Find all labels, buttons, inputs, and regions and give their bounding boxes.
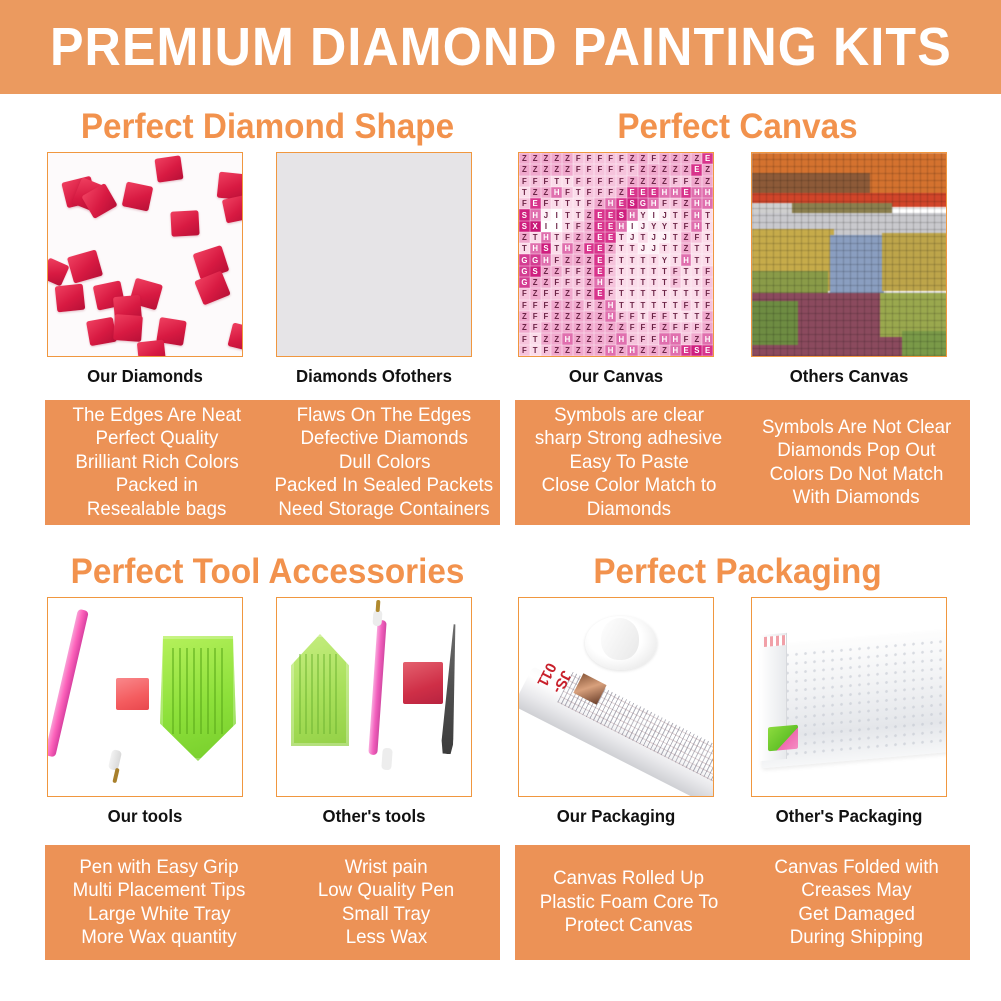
canvas-cell: J [638, 221, 649, 232]
canvas-cell: Z [562, 288, 573, 299]
canvas-cell: Z [541, 266, 552, 277]
canvas-cell: H [670, 187, 681, 198]
canvas-cell: T [638, 254, 649, 265]
section-title-diamond-shape: Perfect Diamond Shape [51, 107, 483, 147]
canvas-cell: E [594, 288, 605, 299]
canvas-cell: E [594, 232, 605, 243]
canvas-cell: Z [584, 209, 595, 220]
fact-line: With Diamonds [793, 486, 920, 510]
canvas-cell: Z [659, 176, 670, 187]
canvas-cell: T [691, 311, 702, 322]
canvas-cell: F [573, 277, 584, 288]
canvas-cell: F [562, 232, 573, 243]
canvas-cell: T [627, 300, 638, 311]
canvas-cell: F [519, 198, 530, 209]
canvas-cell: F [681, 333, 692, 344]
canvas-cell: T [648, 254, 659, 265]
fact-line: Resealable bags [87, 498, 226, 522]
canvas-cell: T [530, 333, 541, 344]
canvas-cell: S [541, 243, 552, 254]
canvas-cell: H [691, 209, 702, 220]
fact-line: The Edges Are Neat [72, 404, 241, 428]
caption-others-diamonds: Diamonds Ofothers [280, 366, 468, 387]
canvas-cell: T [670, 221, 681, 232]
canvas-cell: Z [584, 232, 595, 243]
fact-line: Low Quality Pen [318, 879, 454, 903]
canvas-cell: F [584, 300, 595, 311]
canvas-cell: T [638, 300, 649, 311]
canvas-cell: F [702, 300, 713, 311]
canvas-cell: F [530, 176, 541, 187]
fact-line: Creases May [801, 879, 911, 903]
canvas-cell: Z [584, 311, 595, 322]
canvas-cell: Z [530, 288, 541, 299]
canvas-cell: Z [573, 311, 584, 322]
canvas-cell: S [691, 345, 702, 356]
canvas-cell: Z [530, 164, 541, 175]
canvas-cell: Z [648, 176, 659, 187]
canvas-cell: I [627, 221, 638, 232]
canvas-cell: F [551, 288, 562, 299]
canvas-cell: F [519, 333, 530, 344]
fact-line: Perfect Quality [95, 427, 218, 451]
canvas-cell: T [648, 300, 659, 311]
canvas-cell: Z [573, 254, 584, 265]
fact-line: During Shipping [790, 926, 923, 950]
canvas-cell: G [638, 198, 649, 209]
fact-line: Small Tray [342, 903, 430, 927]
canvas-cell: Z [541, 333, 552, 344]
canvas-cell: H [562, 333, 573, 344]
factcol-our-diamonds: The Edges Are Neat Perfect Quality Brill… [45, 400, 268, 525]
canvas-cell: Z [551, 300, 562, 311]
canvas-cell: F [584, 176, 595, 187]
canvas-cell: F [541, 176, 552, 187]
canvas-cell: F [691, 232, 702, 243]
canvas-cell: T [551, 176, 562, 187]
canvas-cell: Z [681, 198, 692, 209]
canvas-cell: Z [594, 311, 605, 322]
canvas-cell: T [551, 232, 562, 243]
canvas-cell: Z [551, 311, 562, 322]
fact-line: Dull Colors [338, 451, 430, 475]
fact-line: Less Wax [345, 926, 426, 950]
canvas-cell: T [691, 288, 702, 299]
factcol-our-packaging: Canvas Rolled Up Plastic Foam Core To Pr… [515, 845, 743, 960]
canvas-cell: Z [638, 164, 649, 175]
canvas-cell: F [573, 153, 584, 164]
photo-others-diamonds [276, 152, 472, 357]
canvas-cell: F [616, 311, 627, 322]
canvas-cell: F [519, 176, 530, 187]
factcol-our-canvas: Symbols are clear sharp Strong adhesive … [515, 400, 743, 525]
canvas-cell: T [627, 254, 638, 265]
canvas-cell: F [584, 198, 595, 209]
canvas-cell: F [670, 322, 681, 333]
canvas-cell: J [659, 232, 670, 243]
canvas-cell: H [541, 232, 552, 243]
canvas-cell: Z [638, 176, 649, 187]
canvas-cell: T [551, 198, 562, 209]
canvas-cell: E [594, 243, 605, 254]
canvas-cell: I [551, 221, 562, 232]
canvas-cell: G [519, 254, 530, 265]
canvas-cell: Z [562, 311, 573, 322]
canvas-cell: T [702, 243, 713, 254]
canvas-cell: E [594, 266, 605, 277]
canvas-cell: F [670, 277, 681, 288]
canvas-cell: Z [584, 266, 595, 277]
factbox-diamond-shape: The Edges Are Neat Perfect Quality Brill… [45, 400, 500, 525]
photo-our-diamonds [47, 152, 243, 357]
canvas-cell: Z [638, 345, 649, 356]
canvas-cell: T [670, 300, 681, 311]
fact-line: Get Damaged [798, 903, 915, 927]
section-title-packaging: Perfect Packaging [521, 552, 953, 592]
canvas-cell: X [530, 221, 541, 232]
canvas-cell: T [519, 243, 530, 254]
canvas-cell: F [681, 300, 692, 311]
canvas-cell: T [616, 300, 627, 311]
canvas-cell: Z [594, 198, 605, 209]
canvas-cell: F [519, 288, 530, 299]
canvas-cell: J [648, 243, 659, 254]
canvas-cell: Z [573, 322, 584, 333]
canvas-cell: T [691, 277, 702, 288]
canvas-cell: Z [562, 300, 573, 311]
pen-top-collar [372, 610, 382, 627]
canvas-cell: Z [670, 164, 681, 175]
fact-line: Brilliant Rich Colors [75, 451, 238, 475]
fact-line: Protect Canvas [565, 914, 693, 938]
pink-pen-icon [48, 609, 89, 758]
canvas-cell: E [702, 153, 713, 164]
canvas-cell: F [562, 277, 573, 288]
canvas-cell: F [648, 311, 659, 322]
pink-symbol-grid-image: ZZZZZFFFFFZZFZZZZEZZZZZFFFFFFZZZZZEZFFFT… [519, 153, 713, 356]
tube-cap-knob [601, 618, 639, 660]
canvas-cell: H [670, 333, 681, 344]
canvas-cell: Y [659, 221, 670, 232]
canvas-cell: E [584, 243, 595, 254]
canvas-cell: Z [584, 322, 595, 333]
canvas-cell: H [659, 333, 670, 344]
canvas-cell: Z [616, 322, 627, 333]
canvas-cell: E [648, 187, 659, 198]
canvas-cell: Z [594, 300, 605, 311]
canvas-cell: Z [691, 176, 702, 187]
canvas-symbol-grid: ZZZZZFFFFFZZFZZZZEZZZZZFFFFFFZZZZZEZFFFT… [519, 153, 713, 356]
canvas-cell: Z [519, 311, 530, 322]
canvas-cell: J [627, 232, 638, 243]
canvas-cell: Z [584, 333, 595, 344]
canvas-cell: Z [562, 164, 573, 175]
canvas-cell: T [681, 288, 692, 299]
canvas-cell: Z [519, 232, 530, 243]
canvas-cell: F [648, 153, 659, 164]
canvas-cell: Z [691, 333, 702, 344]
canvas-cell: T [681, 277, 692, 288]
canvas-cell: T [659, 300, 670, 311]
canvas-cell: E [530, 198, 541, 209]
canvas-cell: F [627, 322, 638, 333]
canvas-cell: Z [594, 345, 605, 356]
mailer-seal-strip [764, 635, 786, 647]
canvas-cell: Z [541, 187, 552, 198]
canvas-cell: H [530, 243, 541, 254]
fact-line: sharp Strong adhesive [535, 427, 722, 451]
canvas-cell: F [670, 198, 681, 209]
canvas-cell: F [627, 333, 638, 344]
canvas-cell: F [562, 187, 573, 198]
photo-others-packaging [751, 597, 947, 797]
canvas-cell: F [573, 221, 584, 232]
canvas-cell: Z [584, 288, 595, 299]
canvas-cell: F [659, 198, 670, 209]
canvas-cell: T [530, 345, 541, 356]
factcol-others-tools: Wrist pain Low Quality Pen Small Tray Le… [273, 845, 501, 960]
canvas-cell: T [638, 232, 649, 243]
caption-others-packaging: Other's Packaging [755, 806, 943, 827]
canvas-cell: Z [659, 164, 670, 175]
canvas-cell: F [605, 164, 616, 175]
canvas-cell: Z [702, 164, 713, 175]
canvas-cell: F [681, 221, 692, 232]
section-title-tools: Perfect Tool Accessories [51, 552, 483, 592]
canvas-cell: F [691, 322, 702, 333]
canvas-cell: H [616, 333, 627, 344]
photo-others-canvas [751, 152, 947, 357]
page-title: PREMIUM DIAMOND PAINTING KITS [50, 16, 952, 78]
canvas-cell: Z [573, 300, 584, 311]
canvas-cell: T [659, 243, 670, 254]
canvas-cell: F [541, 311, 552, 322]
canvas-cell: T [670, 254, 681, 265]
canvas-cell: E [627, 187, 638, 198]
caption-our-packaging: Our Packaging [522, 806, 710, 827]
canvas-cell: Z [530, 153, 541, 164]
bubble-mailer-image [752, 598, 946, 796]
canvas-cell: H [691, 187, 702, 198]
canvas-cell: E [594, 221, 605, 232]
photo-our-tools [47, 597, 243, 797]
canvas-cell: H [702, 333, 713, 344]
canvas-cell: T [670, 209, 681, 220]
canvas-cell: Z [681, 232, 692, 243]
canvas-cell: Z [627, 176, 638, 187]
canvas-cell: Z [551, 322, 562, 333]
canvas-cell: F [638, 322, 649, 333]
canvas-cell: H [551, 187, 562, 198]
canvas-cell: Z [659, 153, 670, 164]
canvas-cell: T [638, 266, 649, 277]
canvas-cell: F [702, 288, 713, 299]
canvas-cell: T [562, 198, 573, 209]
fact-line: Close Color Match to [541, 474, 716, 498]
canvas-cell: H [627, 345, 638, 356]
canvas-cell: H [605, 198, 616, 209]
canvas-cell: T [530, 232, 541, 243]
factbox-packaging: Canvas Rolled Up Plastic Foam Core To Pr… [515, 845, 970, 960]
canvas-cell: E [605, 221, 616, 232]
caption-others-canvas: Others Canvas [755, 366, 943, 387]
canvas-cell: F [605, 277, 616, 288]
canvas-cell: F [519, 300, 530, 311]
canvas-cell: Z [670, 153, 681, 164]
red-diamonds-image [48, 153, 242, 356]
canvas-cell: Z [541, 322, 552, 333]
infographic-page: PREMIUM DIAMOND PAINTING KITS Perfect Di… [0, 0, 1001, 1001]
canvas-cell: Z [573, 243, 584, 254]
canvas-cell: F [681, 322, 692, 333]
canvas-cell: T [627, 243, 638, 254]
canvas-cell: T [616, 254, 627, 265]
canvas-cell: T [573, 198, 584, 209]
fact-line: Large White Tray [87, 903, 230, 927]
canvas-cell: T [702, 254, 713, 265]
canvas-cell: T [562, 221, 573, 232]
canvas-cell: Z [702, 311, 713, 322]
canvas-cell: F [670, 176, 681, 187]
canvas-cell: Z [616, 345, 627, 356]
canvas-cell: T [616, 232, 627, 243]
mailer-bubble-texture [774, 636, 946, 760]
fact-line: Pen with Easy Grip [79, 856, 238, 880]
canvas-cell: Z [702, 176, 713, 187]
canvas-cell: Y [638, 209, 649, 220]
canvas-cell: H [681, 254, 692, 265]
canvas-cell: T [691, 266, 702, 277]
header-banner: PREMIUM DIAMOND PAINTING KITS [0, 0, 1001, 94]
canvas-cell: T [616, 266, 627, 277]
canvas-cell: J [648, 232, 659, 243]
canvas-cell: F [616, 153, 627, 164]
canvas-cell: F [562, 266, 573, 277]
canvas-cell: Z [551, 153, 562, 164]
canvas-cell: Y [648, 221, 659, 232]
canvas-cell: Z [562, 322, 573, 333]
canvas-cell: F [605, 254, 616, 265]
canvas-cell: T [681, 266, 692, 277]
fact-line: Colors Do Not Match [769, 463, 943, 487]
photo-our-packaging: JS-011 [518, 597, 714, 797]
canvas-cell: Z [541, 164, 552, 175]
canvas-cell: T [691, 300, 702, 311]
canvas-cell: Z [702, 322, 713, 333]
green-tray-grooves [172, 648, 224, 734]
canvas-cell: E [616, 198, 627, 209]
factcol-others-canvas: Symbols Are Not Clear Diamonds Pop Out C… [743, 400, 971, 525]
canvas-cell: F [530, 322, 541, 333]
fact-line: Easy To Paste [569, 451, 688, 475]
canvas-cell: F [541, 300, 552, 311]
canvas-cell: Z [573, 345, 584, 356]
canvas-cell: Z [627, 153, 638, 164]
fact-line: Canvas Folded with [774, 856, 938, 880]
canvas-cell: Z [573, 333, 584, 344]
canvas-cell: F [638, 333, 649, 344]
canvas-cell: E [702, 345, 713, 356]
canvas-cell: T [648, 288, 659, 299]
canvas-cell: Z [681, 164, 692, 175]
canvas-cell: Z [530, 277, 541, 288]
canvas-cell: F [573, 164, 584, 175]
canvas-cell: T [648, 266, 659, 277]
canvas-cell: S [616, 209, 627, 220]
canvas-cell: E [638, 187, 649, 198]
canvas-cell: Z [605, 333, 616, 344]
canvas-cell: H [594, 277, 605, 288]
canvas-cell: T [670, 311, 681, 322]
canvas-cell: T [616, 277, 627, 288]
canvas-cell: F [605, 176, 616, 187]
canvas-cell: E [681, 345, 692, 356]
canvas-cell: F [648, 333, 659, 344]
canvas-cell: T [627, 277, 638, 288]
canvas-cell: Z [648, 345, 659, 356]
canvas-cell: T [627, 266, 638, 277]
canvas-cell: H [702, 198, 713, 209]
canvas-cell: F [616, 164, 627, 175]
canvas-cell: F [627, 164, 638, 175]
canvas-cell: H [562, 243, 573, 254]
canvas-cell: T [616, 288, 627, 299]
canvas-cell: F [594, 176, 605, 187]
canvas-cell: T [670, 288, 681, 299]
canvas-cell: Z [584, 345, 595, 356]
canvas-cell: T [659, 277, 670, 288]
canvas-cell: T [573, 187, 584, 198]
canvas-cell: I [541, 221, 552, 232]
canvas-cell: Z [659, 322, 670, 333]
canvas-cell: Z [562, 153, 573, 164]
canvas-cell: F [702, 266, 713, 277]
canvas-cell: F [594, 153, 605, 164]
caption-our-diamonds: Our Diamonds [51, 366, 239, 387]
canvas-cell: Z [616, 187, 627, 198]
canvas-cell: H [691, 221, 702, 232]
canvas-cell: F [605, 288, 616, 299]
fact-line: Canvas Rolled Up [553, 867, 704, 891]
canvas-cell: Z [691, 153, 702, 164]
canvas-cell: H [648, 198, 659, 209]
canvas-cell: T [681, 311, 692, 322]
canvas-cell: F [605, 266, 616, 277]
factbox-canvas: Symbols are clear sharp Strong adhesive … [515, 400, 970, 525]
small-tray-grooves [299, 654, 341, 734]
wax-square-icon [403, 662, 443, 704]
canvas-cell: F [573, 266, 584, 277]
canvas-cell: Z [605, 322, 616, 333]
our-tools-image [48, 598, 242, 796]
canvas-cell: G [519, 277, 530, 288]
canvas-cell: Z [530, 187, 541, 198]
fact-line: Packed in [116, 474, 198, 498]
canvas-cell: H [605, 311, 616, 322]
canvas-cell: E [594, 209, 605, 220]
canvas-cell: F [702, 277, 713, 288]
canvas-cell: F [551, 277, 562, 288]
canvas-cell: Z [562, 254, 573, 265]
canvas-cell: F [530, 300, 541, 311]
canvas-cell: H [605, 300, 616, 311]
canvas-cell: J [541, 209, 552, 220]
canvas-cell: F [670, 266, 681, 277]
canvas-cell: H [659, 187, 670, 198]
canvas-cell: F [519, 345, 530, 356]
canvas-cell: S [519, 221, 530, 232]
canvas-cell: H [627, 209, 638, 220]
